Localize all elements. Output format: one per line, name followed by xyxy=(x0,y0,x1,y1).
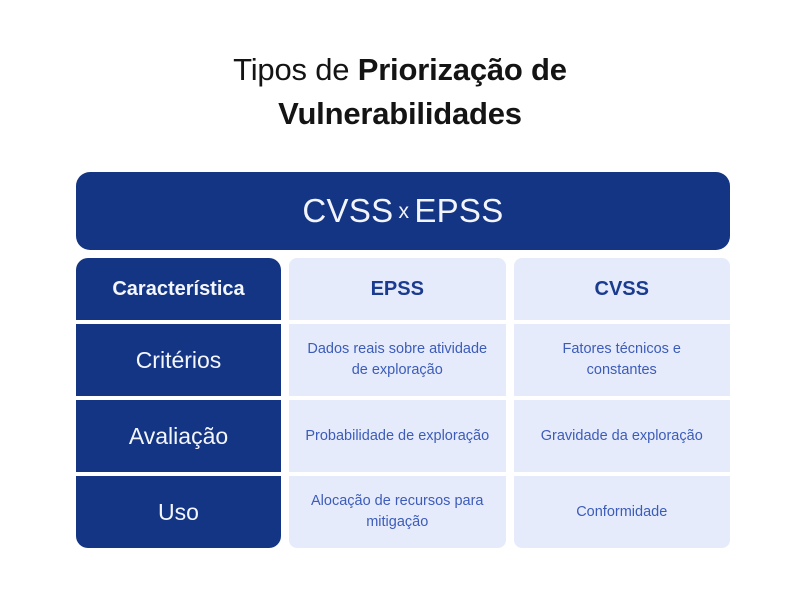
row-label-avaliacao: Avaliação xyxy=(76,400,281,472)
cell-uso-epss: Alocação de recursos para mitigação xyxy=(289,476,506,548)
page-title-bold-part-line1: Priorização de xyxy=(358,52,567,87)
banner-left-term: CVSS xyxy=(302,192,393,230)
cell-uso-cvss: Conformidade xyxy=(514,476,731,548)
cell-avaliacao-cvss: Gravidade da exploração xyxy=(514,400,731,472)
cell-criterios-cvss: Fatores técnicos e constantes xyxy=(514,324,731,396)
page-title: Tipos de Priorização de Vulnerabilidades xyxy=(0,48,800,136)
banner-separator: x xyxy=(394,200,415,224)
row-label-uso: Uso xyxy=(76,476,281,548)
column-header-cvss: CVSS xyxy=(514,258,731,320)
row-label-criterios: Critérios xyxy=(76,324,281,396)
comparison-table: Característica EPSS CVSS Critérios Dados… xyxy=(76,258,730,548)
column-header-epss: EPSS xyxy=(289,258,506,320)
table-header-row: Característica EPSS CVSS xyxy=(76,258,730,320)
cell-avaliacao-epss: Probabilidade de exploração xyxy=(289,400,506,472)
page-title-light-part: Tipos de xyxy=(233,52,358,87)
page-title-bold-part-line2: Vulnerabilidades xyxy=(278,96,522,131)
table-row: Avaliação Probabilidade de exploração Gr… xyxy=(76,400,730,472)
cell-criterios-epss: Dados reais sobre atividade de exploraçã… xyxy=(289,324,506,396)
table-row: Critérios Dados reais sobre atividade de… xyxy=(76,324,730,396)
table-row: Uso Alocação de recursos para mitigação … xyxy=(76,476,730,548)
comparison-card: CVSS x EPSS Característica EPSS CVSS Cri… xyxy=(76,172,730,548)
banner-right-term: EPSS xyxy=(414,192,503,230)
column-header-characteristic: Característica xyxy=(76,258,281,320)
comparison-banner: CVSS x EPSS xyxy=(76,172,730,250)
infographic-page: Tipos de Priorização de Vulnerabilidades… xyxy=(0,0,800,600)
